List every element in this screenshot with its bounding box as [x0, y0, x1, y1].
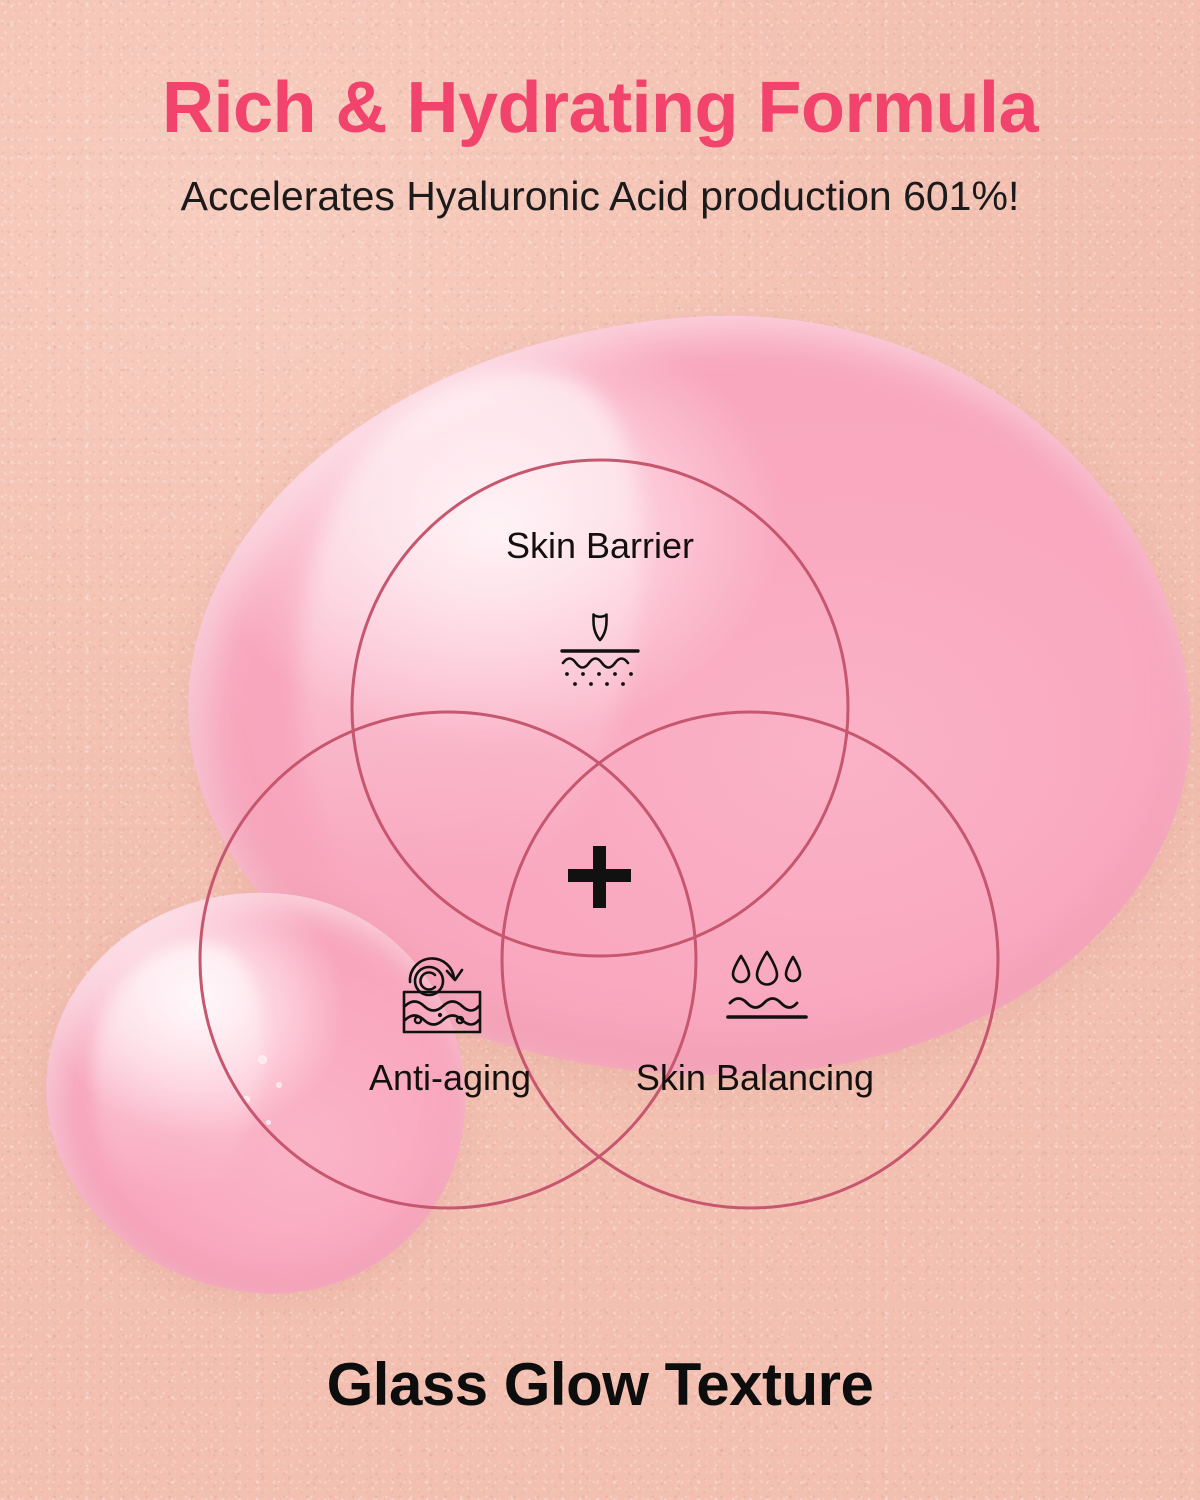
infographic-canvas: Rich & Hydrating Formula Accelerates Hya…	[0, 0, 1200, 1500]
venn-diagram	[0, 0, 1200, 1500]
footer-title: Glass Glow Texture	[0, 1355, 1200, 1415]
venn-label-skin-barrier: Skin Barrier	[0, 528, 1200, 564]
shield-over-skin-layers-icon	[546, 604, 654, 695]
water-droplets-over-skin-icon	[718, 948, 816, 1037]
venn-label-skin-balancing: Skin Balancing	[545, 1060, 965, 1096]
vitamin-c-renewal-skin-icon	[390, 948, 494, 1047]
plus-icon	[560, 842, 640, 912]
